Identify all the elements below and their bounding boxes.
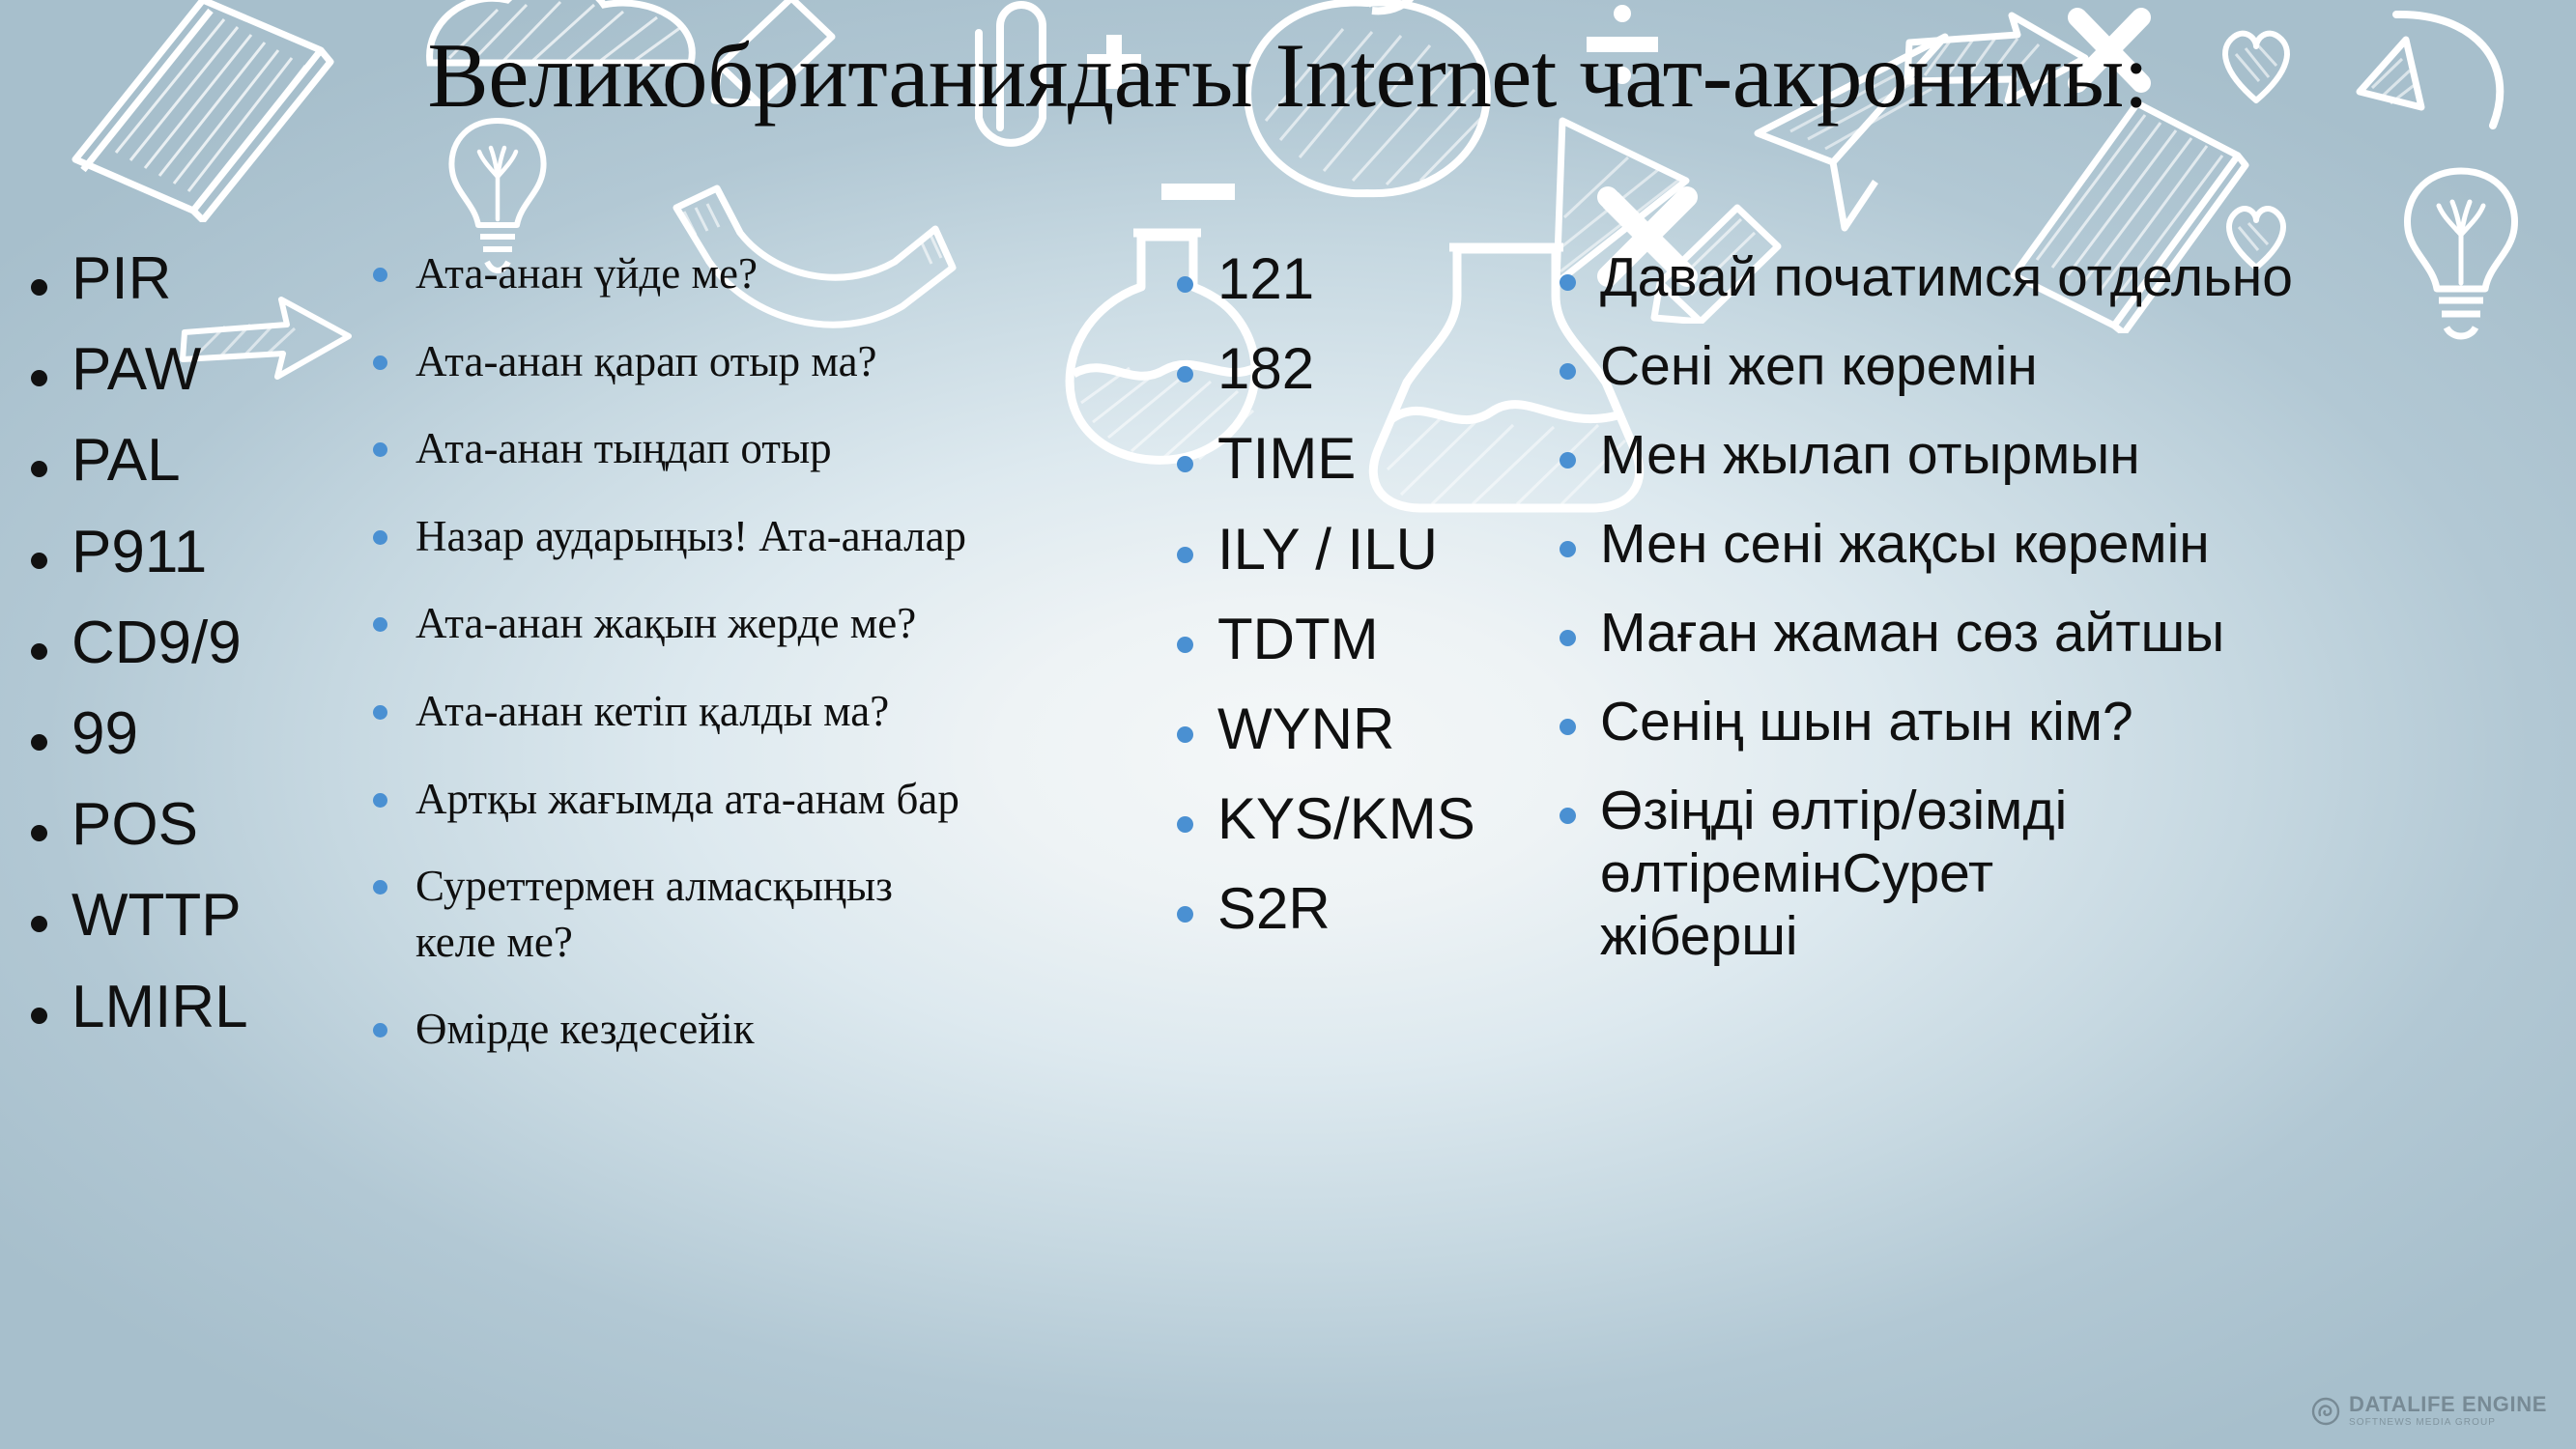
- list-item: WYNR: [1163, 696, 1550, 761]
- list-item: ILY / ILU: [1163, 517, 1550, 582]
- page-title: Великобританиядағы Internet чат-акронимы…: [0, 21, 2576, 129]
- list-item: PAW: [17, 337, 365, 403]
- list-item: Маған жаман сөз айтшы: [1546, 602, 2512, 665]
- list-item: KYS/KMS: [1163, 786, 1550, 851]
- list-item: Сенің шын атын кім?: [1546, 691, 2512, 753]
- slide-canvas: Великобританиядағы Internet чат-акронимы…: [0, 0, 2576, 1449]
- list-item: Назар аударыңыз! Ата-аналар: [359, 509, 1132, 565]
- list-item: P911: [17, 520, 365, 585]
- list-item: WTTP: [17, 883, 365, 949]
- list-item: Өзіңді өлтір/өзімді өлтіремінСурет жібер…: [1546, 780, 2087, 968]
- list-item: PIR: [17, 246, 365, 312]
- list-item: Ата-анан кетіп қалды ма?: [359, 684, 1132, 740]
- list-item: Өмірде кездесейік: [359, 1002, 1132, 1058]
- list-item: TDTM: [1163, 607, 1550, 671]
- list-item: 99: [17, 701, 365, 767]
- list-item: POS: [17, 792, 365, 858]
- list-item: CD9/9: [17, 611, 365, 676]
- list-item: 182: [1163, 336, 1550, 401]
- list-item: PAL: [17, 428, 365, 494]
- list-item: Мен жылап отырмын: [1546, 424, 2512, 487]
- watermark-title: DATALIFE ENGINE: [2349, 1394, 2547, 1415]
- list-item: Артқы жағымда ата-анам бар: [359, 772, 1132, 828]
- meaning-list-right: Давай початимся отдельно Сені жеп көремі…: [1546, 246, 2512, 994]
- list-item: Суреттермен алмасқыңыз келе ме?: [359, 859, 978, 970]
- list-item: Ата-анан жақын жерде ме?: [359, 596, 1132, 652]
- list-item: Ата-анан тыңдап отыр: [359, 421, 1132, 477]
- acronym-list-left: PIR PAW PAL P911 CD9/9 99 POS WTTP LMIRL: [17, 246, 365, 1065]
- watermark-subtitle: SOFTNEWS MEDIA GROUP: [2349, 1418, 2547, 1428]
- acronym-list-right: 121 182 TIME ILY / ILU TDTM WYNR KYS/KMS…: [1163, 246, 1550, 967]
- list-item: S2R: [1163, 876, 1550, 941]
- watermark: DATALIFE ENGINE SOFTNEWS MEDIA GROUP: [2311, 1394, 2547, 1428]
- datalife-logo-icon: [2311, 1397, 2340, 1426]
- list-item: Сені жеп көремін: [1546, 335, 2512, 398]
- list-item: Мен сені жақсы көремін: [1546, 513, 2512, 576]
- meaning-list-left: Ата-анан үйде ме? Ата-анан қарап отыр ма…: [359, 246, 1132, 1090]
- list-item: 121: [1163, 246, 1550, 311]
- list-item: Давай початимся отдельно: [1546, 246, 2512, 309]
- list-item: LMIRL: [17, 975, 365, 1040]
- list-item: TIME: [1163, 426, 1550, 491]
- content-columns: PIR PAW PAL P911 CD9/9 99 POS WTTP LMIRL…: [0, 246, 2576, 1367]
- minus-icon: [1159, 180, 1237, 205]
- list-item: Ата-анан қарап отыр ма?: [359, 334, 1132, 390]
- list-item: Ата-анан үйде ме?: [359, 246, 1132, 302]
